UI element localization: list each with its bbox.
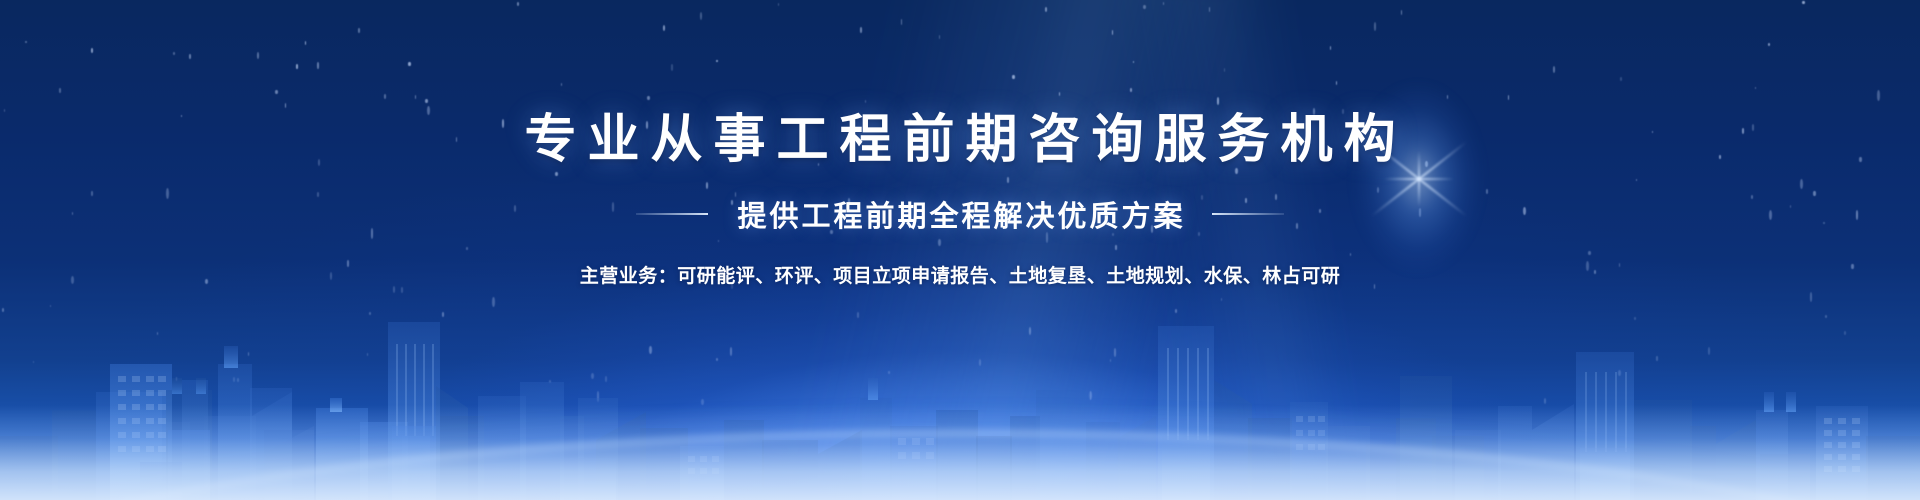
page-subtitle: 提供工程前期全程解决优质方案	[734, 193, 1185, 235]
right-rule-decor	[1212, 213, 1284, 215]
banner-content: 专业从事工程前期咨询服务机构 提供工程前期全程解决优质方案 主营业务：可研能评、…	[0, 112, 1920, 288]
page-title: 专业从事工程前期咨询服务机构	[0, 112, 1920, 169]
hero-banner: 专业从事工程前期咨询服务机构 提供工程前期全程解决优质方案 主营业务：可研能评、…	[0, 0, 1920, 500]
subtitle-row: 提供工程前期全程解决优质方案	[0, 193, 1920, 235]
business-scope-tagline: 主营业务：可研能评、环评、项目立项申请报告、土地复垦、土地规划、水保、林占可研	[0, 261, 1920, 288]
left-rule-decor	[636, 213, 708, 215]
